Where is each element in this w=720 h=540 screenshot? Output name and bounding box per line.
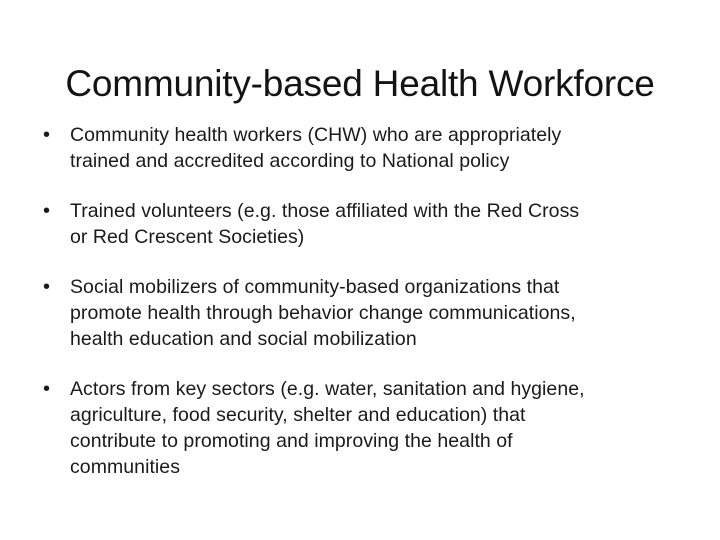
bullet-item-2: • Trained volunteers (e.g. those affilia…: [36, 198, 696, 250]
bullet-marker-icon: •: [43, 274, 57, 300]
bullet-item-4: • Actors from key sectors (e.g. water, s…: [36, 376, 696, 480]
bullet-line: agriculture, food security, shelter and …: [70, 402, 696, 428]
bullet-line: contribute to promoting and improving th…: [70, 428, 696, 454]
bullet-line: Community health workers (CHW) who are a…: [70, 122, 696, 148]
bullet-line: Actors from key sectors (e.g. water, san…: [70, 376, 696, 402]
bullet-text-2: Trained volunteers (e.g. those affiliate…: [70, 198, 696, 250]
bullet-line: or Red Crescent Societies): [70, 224, 696, 250]
slide-title: Community-based Health Workforce: [0, 63, 720, 106]
bullet-line: trained and accredited according to Nati…: [70, 148, 696, 174]
bullet-line: Social mobilizers of community-based org…: [70, 274, 696, 300]
bullet-marker-icon: •: [43, 122, 57, 148]
bullet-line: health education and social mobilization: [70, 326, 696, 352]
bullet-item-1: • Community health workers (CHW) who are…: [36, 122, 696, 174]
bullet-item-3: • Social mobilizers of community-based o…: [36, 274, 696, 352]
bullet-marker-icon: •: [43, 376, 57, 402]
bullet-marker-icon: •: [43, 198, 57, 224]
bullet-text-1: Community health workers (CHW) who are a…: [70, 122, 696, 174]
presentation-slide: Community-based Health Workforce • Commu…: [0, 0, 720, 540]
bullet-text-4: Actors from key sectors (e.g. water, san…: [70, 376, 696, 480]
bullet-line: promote health through behavior change c…: [70, 300, 696, 326]
bullet-line: communities: [70, 454, 696, 480]
bullet-text-3: Social mobilizers of community-based org…: [70, 274, 696, 352]
bullet-line: Trained volunteers (e.g. those affiliate…: [70, 198, 696, 224]
slide-bullet-list: • Community health workers (CHW) who are…: [36, 122, 696, 480]
